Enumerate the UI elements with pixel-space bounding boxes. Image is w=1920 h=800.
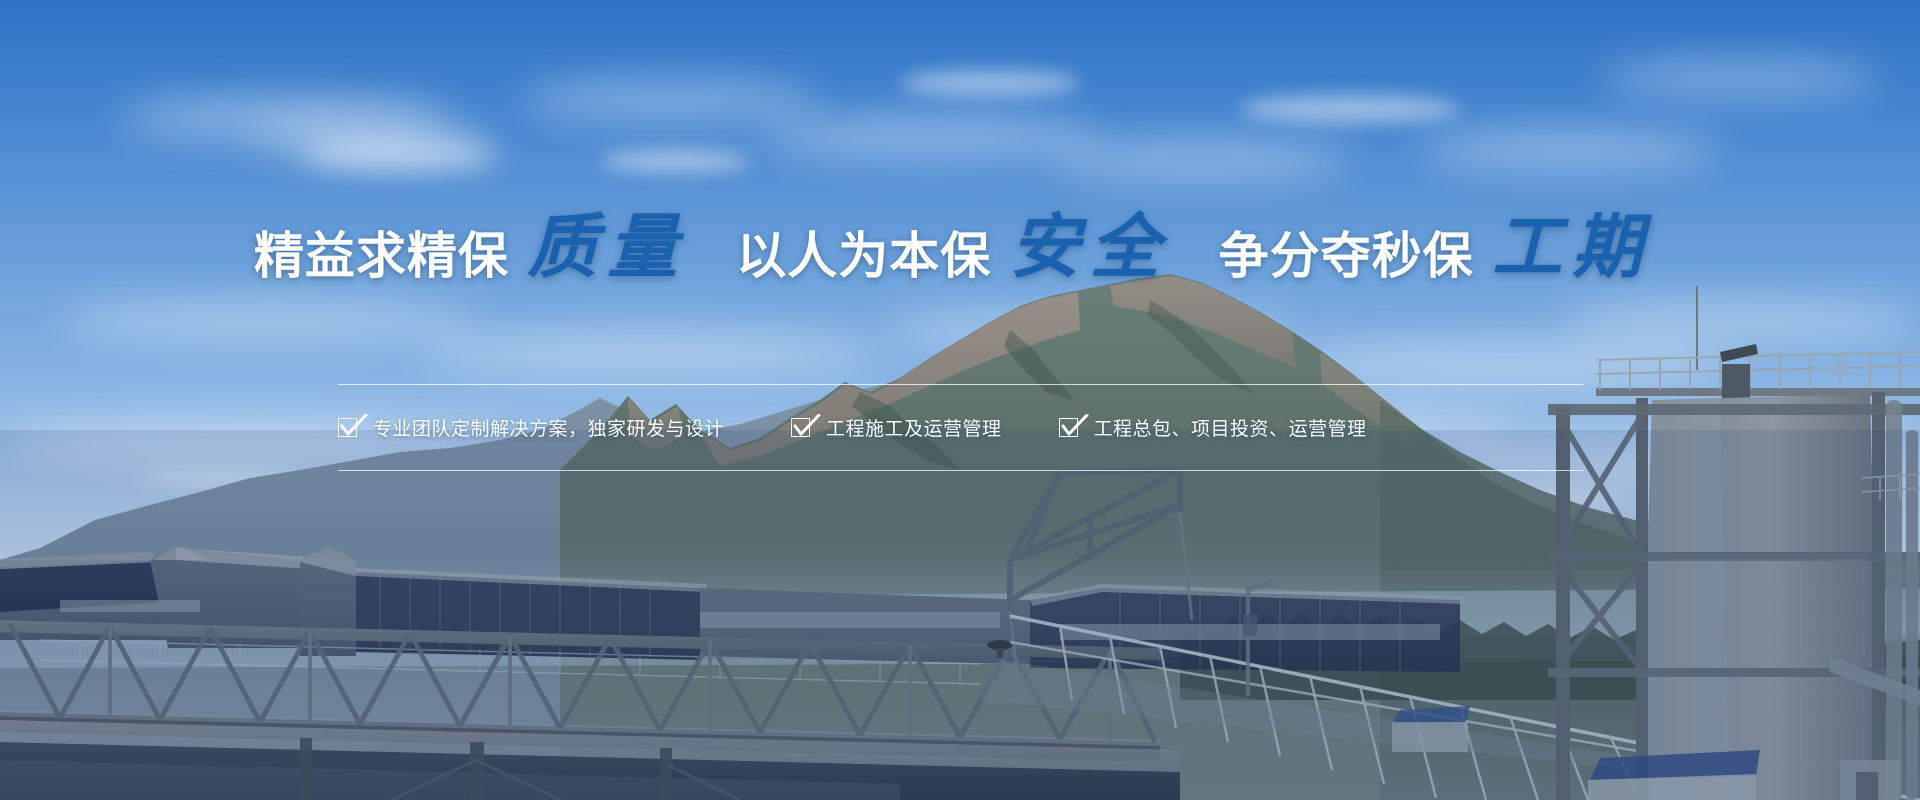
hero-banner: 精益求精保 质量 以人为本保 安全 争分夺秒保 工期 专业团队定制解决方案，独家… (0, 0, 1920, 800)
plant-foreground (0, 0, 1920, 800)
